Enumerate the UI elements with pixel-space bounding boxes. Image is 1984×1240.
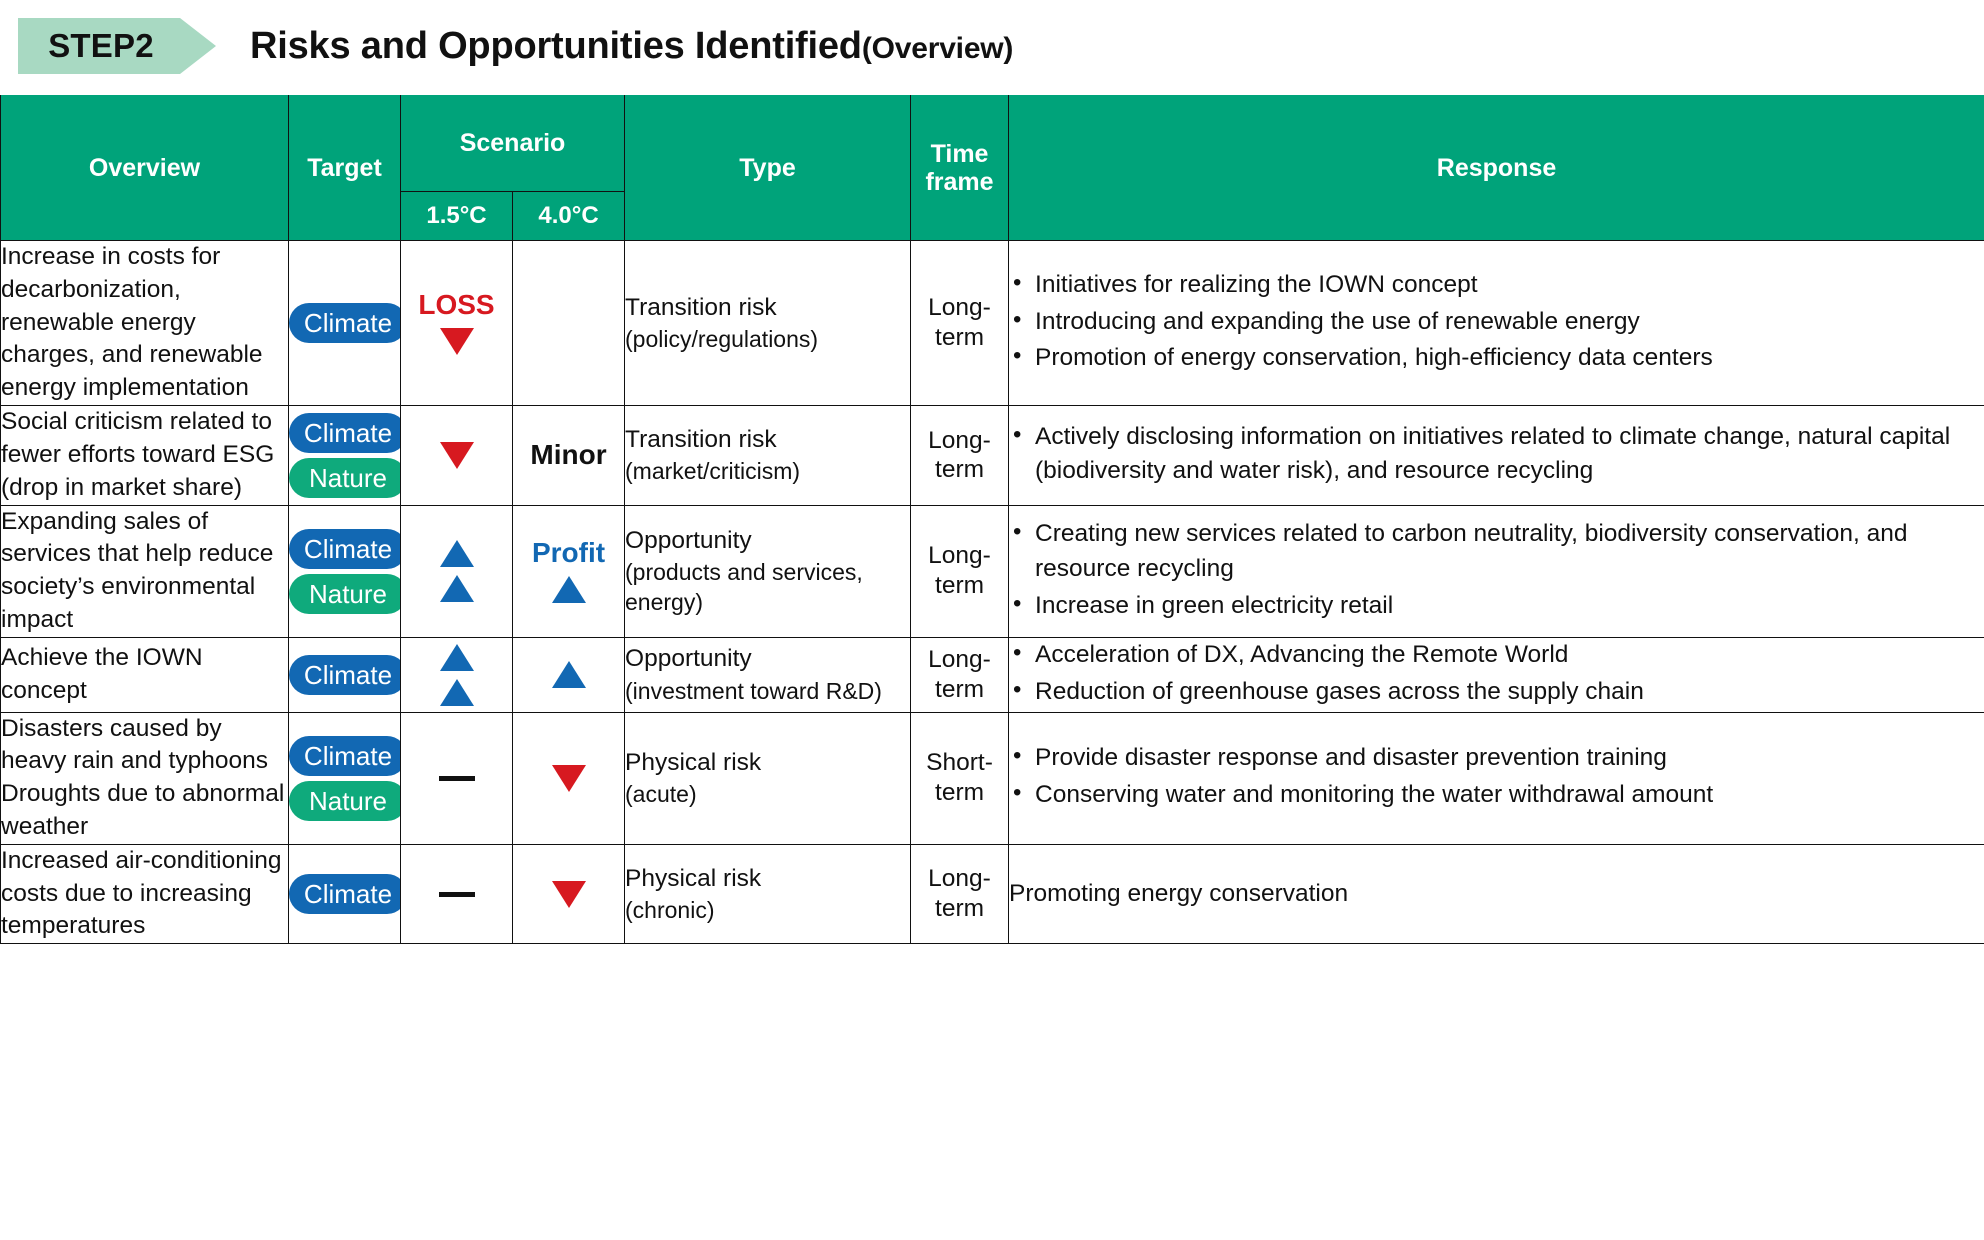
target-badge-nature: Nature: [289, 574, 407, 614]
response-cell: Acceleration of DX, Advancing the Remote…: [1009, 637, 1984, 712]
overview-cell: Increased air-conditioning costs due to …: [1, 844, 289, 943]
table-header: Overview Target Scenario Type Time frame…: [1, 94, 1984, 241]
time-frame-value-line2: term: [935, 676, 984, 703]
time-frame-value-line2: term: [935, 324, 984, 351]
time-frame-line2: frame: [925, 168, 993, 196]
target-cell: ClimateNature: [289, 505, 401, 637]
triangle-down-icon: [552, 881, 586, 908]
minor-label: Minor: [530, 439, 606, 471]
type-main: Transition risk: [625, 292, 910, 324]
target-cell: Climate: [289, 637, 401, 712]
scenario-cell-1-5c: [401, 505, 513, 637]
risks-opportunities-table: Overview Target Scenario Type Time frame…: [0, 92, 1984, 944]
column-header-scenario-4-0c: 4.0°C: [513, 192, 625, 241]
triangle-down-icon: [440, 442, 474, 469]
scenario-cell-4-0c: [513, 712, 625, 844]
target-badge-climate: Climate: [289, 303, 407, 343]
overview-cell: Achieve the IOWN concept: [1, 637, 289, 712]
column-header-overview: Overview: [1, 94, 289, 241]
column-header-target: Target: [289, 94, 401, 241]
table-row: Increase in costs for decarbonization, r…: [1, 241, 1984, 406]
response-cell: Actively disclosing information on initi…: [1009, 406, 1984, 505]
loss-label: LOSS: [418, 289, 494, 321]
scenario-cell-4-0c: Minor: [513, 406, 625, 505]
scenario-cell-1-5c: [401, 844, 513, 943]
target-cell: Climate: [289, 241, 401, 406]
table-row: Achieve the IOWN conceptClimateOpportuni…: [1, 637, 1984, 712]
time-frame-value-line1: Long-: [928, 294, 991, 321]
scenario-cell-4-0c: [513, 637, 625, 712]
response-cell: Initiatives for realizing the IOWN conce…: [1009, 241, 1984, 406]
target-badge-nature: Nature: [289, 781, 407, 821]
time-frame-value-line1: Short-: [926, 749, 993, 776]
type-main: Transition risk: [625, 424, 910, 456]
response-list-item: Acceleration of DX, Advancing the Remote…: [1009, 638, 1984, 673]
scenario-cell-4-0c: Profit: [513, 505, 625, 637]
column-header-response: Response: [1009, 94, 1984, 241]
type-main: Opportunity: [625, 643, 910, 675]
time-frame-value-line2: term: [935, 895, 984, 922]
time-frame-line1: Time: [931, 140, 989, 168]
type-cell: Physical risk(acute): [625, 712, 911, 844]
table-row: Increased air-conditioning costs due to …: [1, 844, 1984, 943]
scenario-cell-1-5c: LOSS: [401, 241, 513, 406]
target-badge-climate: Climate: [289, 655, 407, 695]
time-frame-cell: Long-term: [911, 844, 1009, 943]
column-header-type: Type: [625, 94, 911, 241]
profit-label: Profit: [532, 537, 605, 569]
triangle-down-icon: [440, 328, 474, 355]
response-list-item: Initiatives for realizing the IOWN conce…: [1009, 268, 1984, 303]
target-cell: ClimateNature: [289, 712, 401, 844]
response-list-item: Increase in green electricity retail: [1009, 589, 1984, 624]
scenario-marker-stack: [401, 641, 512, 709]
overview-cell: Expanding sales of services that help re…: [1, 505, 289, 637]
target-badge-climate: Climate: [289, 736, 407, 776]
column-header-time-frame: Time frame: [911, 94, 1009, 241]
dash-icon: [439, 776, 475, 781]
triangle-down-icon: [552, 765, 586, 792]
time-frame-cell: Long-term: [911, 637, 1009, 712]
title-bar: STEP2 Risks and Opportunities Identified…: [0, 0, 1984, 92]
type-main: Physical risk: [625, 747, 910, 779]
type-sub: (chronic): [625, 895, 910, 925]
response-list: Creating new services related to carbon …: [1009, 517, 1984, 623]
page-title: Risks and Opportunities Identified(Overv…: [250, 25, 1013, 68]
response-list-item: Promotion of energy conservation, high-e…: [1009, 341, 1984, 376]
scenario-cell-4-0c: [513, 844, 625, 943]
column-header-scenario-1-5c: 1.5°C: [401, 192, 513, 241]
type-sub: (products and services, energy): [625, 557, 910, 618]
scenario-cell-1-5c: [401, 406, 513, 505]
type-sub: (acute): [625, 779, 910, 809]
time-frame-value-line1: Long-: [928, 542, 991, 569]
scenario-marker-stack: [401, 537, 512, 605]
overview-cell: Increase in costs for decarbonization, r…: [1, 241, 289, 406]
table-body: Increase in costs for decarbonization, r…: [1, 241, 1984, 944]
response-list-item: Creating new services related to carbon …: [1009, 517, 1984, 587]
target-badge-climate: Climate: [289, 413, 407, 453]
response-text: Promoting energy conservation: [1009, 877, 1984, 912]
type-main: Opportunity: [625, 525, 910, 557]
target-badge-climate: Climate: [289, 874, 407, 914]
table-row: Social criticism related to fewer effort…: [1, 406, 1984, 505]
response-cell: Creating new services related to carbon …: [1009, 505, 1984, 637]
type-sub: (market/criticism): [625, 456, 910, 486]
type-cell: Physical risk(chronic): [625, 844, 911, 943]
scenario-marker-stack: [401, 776, 512, 781]
scenario-marker-stack: Profit: [513, 537, 624, 606]
time-frame-cell: Short-term: [911, 712, 1009, 844]
response-cell: Promoting energy conservation: [1009, 844, 1984, 943]
page-title-main: Risks and Opportunities Identified: [250, 25, 862, 67]
response-list: Acceleration of DX, Advancing the Remote…: [1009, 638, 1984, 710]
type-main: Physical risk: [625, 863, 910, 895]
triangle-up-icon: [552, 576, 586, 603]
overview-cell: Disasters caused by heavy rain and typho…: [1, 712, 289, 844]
triangle-up-icon: [440, 575, 474, 602]
table-row: Expanding sales of services that help re…: [1, 505, 1984, 637]
time-frame-value-line2: term: [935, 456, 984, 483]
dash-icon: [439, 892, 475, 897]
type-cell: Transition risk(policy/regulations): [625, 241, 911, 406]
response-list: Actively disclosing information on initi…: [1009, 420, 1984, 490]
scenario-marker-stack: [513, 762, 624, 795]
scenario-marker-stack: [401, 892, 512, 897]
response-list-item: Reduction of greenhouse gases across the…: [1009, 675, 1984, 710]
page-title-sub: (Overview): [862, 32, 1013, 65]
target-badge-nature: Nature: [289, 458, 407, 498]
response-list-item: Actively disclosing information on initi…: [1009, 420, 1984, 490]
scenario-cell-4-0c: [513, 241, 625, 406]
time-frame-cell: Long-term: [911, 406, 1009, 505]
response-list-item: Provide disaster response and disaster p…: [1009, 741, 1984, 776]
triangle-up-icon: [440, 644, 474, 671]
overview-cell: Social criticism related to fewer effort…: [1, 406, 289, 505]
type-cell: Transition risk(market/criticism): [625, 406, 911, 505]
type-sub: (policy/regulations): [625, 324, 910, 354]
response-list-item: Introducing and expanding the use of ren…: [1009, 305, 1984, 340]
time-frame-value-line1: Long-: [928, 646, 991, 673]
triangle-up-icon: [440, 540, 474, 567]
scenario-marker-stack: LOSS: [401, 289, 512, 358]
step-badge-label: STEP2: [48, 27, 154, 65]
target-cell: ClimateNature: [289, 406, 401, 505]
time-frame-value-line1: Long-: [928, 427, 991, 454]
response-list: Provide disaster response and disaster p…: [1009, 741, 1984, 813]
response-list: Initiatives for realizing the IOWN conce…: [1009, 268, 1984, 376]
response-list-item: Conserving water and monitoring the wate…: [1009, 778, 1984, 813]
target-badge-climate: Climate: [289, 529, 407, 569]
scenario-marker-stack: [513, 878, 624, 911]
scenario-marker-stack: [401, 439, 512, 472]
scenario-cell-1-5c: [401, 637, 513, 712]
triangle-up-icon: [440, 679, 474, 706]
time-frame-cell: Long-term: [911, 241, 1009, 406]
column-header-scenario: Scenario: [401, 94, 625, 192]
time-frame-value-line1: Long-: [928, 865, 991, 892]
scenario-marker-stack: [513, 658, 624, 691]
table-row: Disasters caused by heavy rain and typho…: [1, 712, 1984, 844]
type-sub: (investment toward R&D): [625, 676, 910, 706]
triangle-up-icon: [552, 661, 586, 688]
scenario-marker-stack: Minor: [513, 439, 624, 471]
step-badge: STEP2: [18, 18, 180, 74]
time-frame-value-line2: term: [935, 572, 984, 599]
response-cell: Provide disaster response and disaster p…: [1009, 712, 1984, 844]
type-cell: Opportunity(products and services, energ…: [625, 505, 911, 637]
type-cell: Opportunity(investment toward R&D): [625, 637, 911, 712]
time-frame-value-line2: term: [935, 779, 984, 806]
time-frame-cell: Long-term: [911, 505, 1009, 637]
scenario-cell-1-5c: [401, 712, 513, 844]
target-cell: Climate: [289, 844, 401, 943]
